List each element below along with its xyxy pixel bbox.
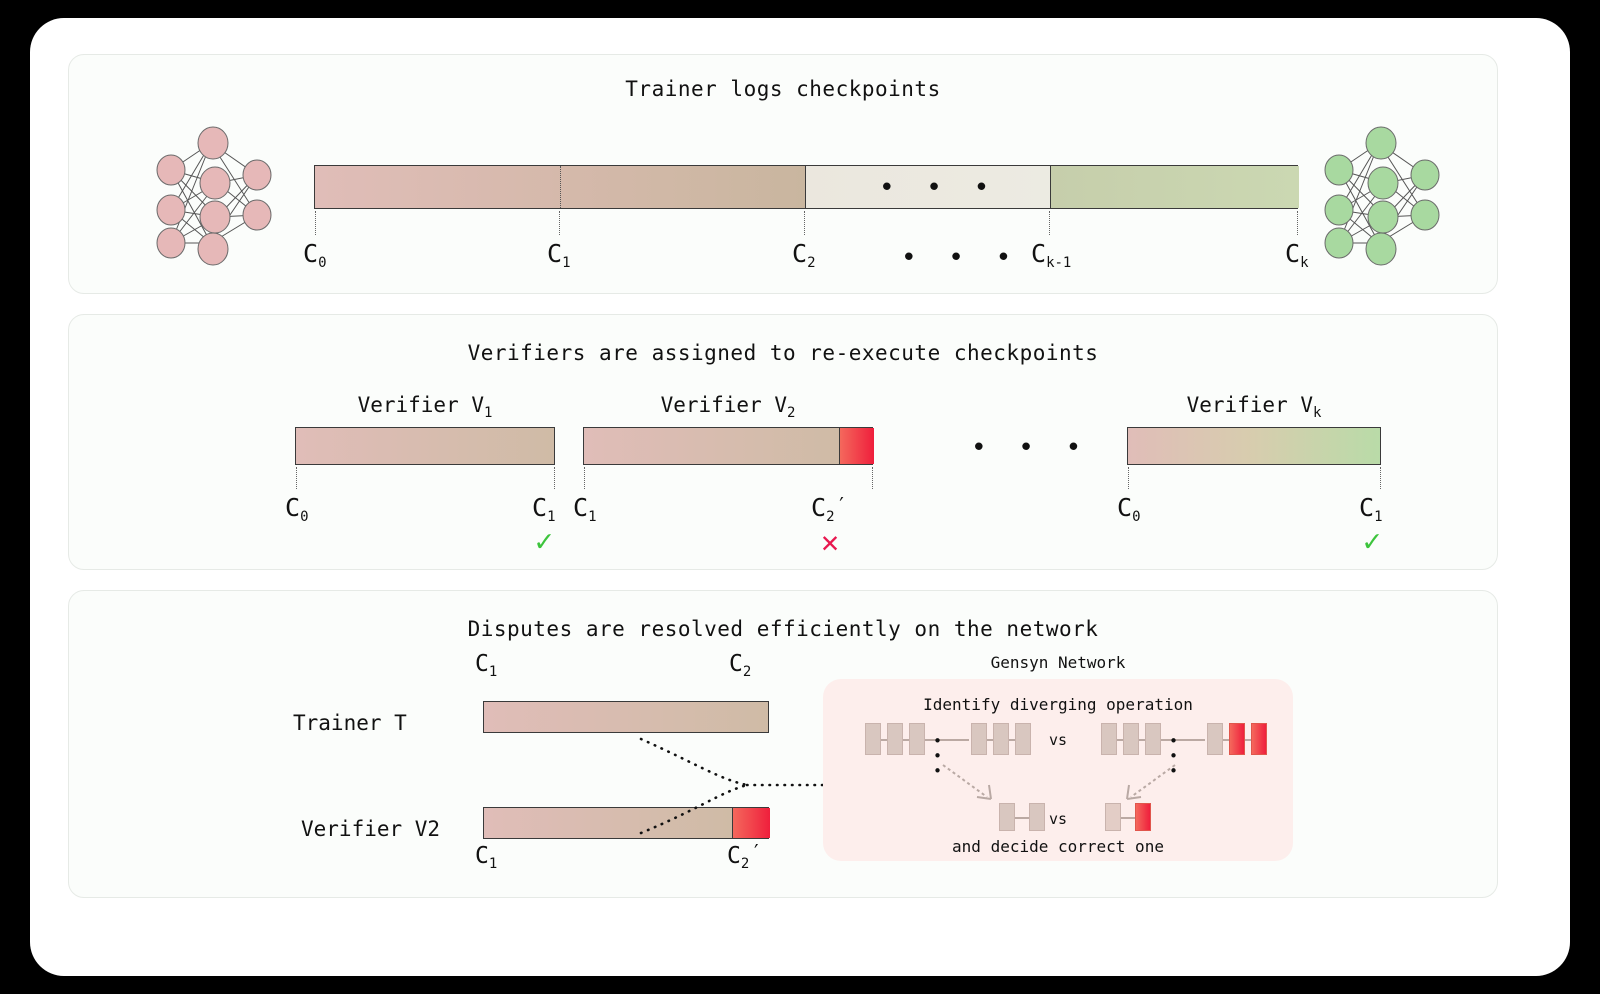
label-base: C — [1285, 239, 1300, 268]
neural-network-green-icon — [1317, 125, 1447, 255]
verifier-k-result-check: ✓ — [1363, 527, 1381, 557]
op-block — [1015, 723, 1031, 755]
panel-verifiers-title: Verifiers are assigned to re-execute che… — [69, 341, 1497, 365]
label-sub: 2 — [743, 664, 751, 680]
verifier-2-tick-start — [584, 467, 585, 489]
tick-c2 — [804, 211, 805, 235]
segment-ck1-ck — [1050, 166, 1299, 208]
gensyn-caption-bottom: and decide correct one — [823, 837, 1293, 856]
verifier-1-title: Verifier V1 — [295, 393, 555, 417]
verifier-2-end-label: C2′ — [811, 495, 847, 520]
verifier-1-index: 1 — [484, 405, 492, 421]
gensyn-network-heading: Gensyn Network — [823, 653, 1293, 672]
label-base: C — [475, 843, 489, 869]
tick-c1 — [559, 211, 560, 235]
divider-ck1 — [1050, 166, 1051, 208]
verifier-2-result-cross: ✕ — [821, 528, 839, 558]
label-base: C — [1359, 493, 1374, 522]
verifier-1-tick-end — [554, 467, 555, 489]
verifier-2-name: Verifier V — [661, 393, 787, 417]
verifier-k-end-label: C1 — [1359, 495, 1383, 520]
gensyn-network-box: Identify diverging operation • • • vs — [823, 679, 1293, 861]
op-block — [909, 723, 925, 755]
verifier-row-start-label: C1 — [475, 845, 497, 868]
op-block — [887, 723, 903, 755]
verifier-2-segment-normal — [584, 428, 839, 464]
label-sub: 1 — [588, 509, 596, 525]
verifier-k-tick-start — [1128, 467, 1129, 489]
dispute-row-label-verifier: Verifier V2 — [301, 817, 440, 841]
verifier-k-index: k — [1313, 405, 1321, 421]
verifier-1-bar — [295, 427, 555, 465]
tick-c0 — [315, 211, 316, 235]
drilldown-arrow-right — [1111, 763, 1177, 807]
gensyn-caption-top: Identify diverging operation — [823, 695, 1293, 714]
op-block — [993, 723, 1009, 755]
diagram-card: Trainer logs checkpoints — [30, 18, 1570, 976]
label-base: C — [1031, 239, 1046, 268]
label-sub: k — [1300, 255, 1308, 271]
dispute-row-label-trainer: Trainer T — [293, 711, 407, 735]
label-base: C — [811, 493, 826, 522]
checkpoint-label-ck1: Ck-1 — [1031, 241, 1071, 266]
op-block-divergent — [1229, 723, 1245, 755]
label-sub: 1 — [489, 856, 497, 872]
verifier-1-start-label: C0 — [285, 495, 309, 520]
op-block — [1101, 723, 1117, 755]
label-sub: 0 — [318, 255, 326, 271]
trainer-timeline-bar: • • • — [314, 165, 1298, 209]
drilldown-arrow-left — [941, 763, 1007, 807]
label-sub: 1 — [1374, 509, 1382, 525]
panel-trainer: Trainer logs checkpoints — [68, 54, 1498, 294]
op-block — [999, 803, 1015, 831]
panel-disputes: Disputes are resolved efficiently on the… — [68, 590, 1498, 898]
label-sub: 2 — [807, 255, 815, 271]
segment-c0-c1 — [315, 166, 560, 208]
verifier-k-bar — [1127, 427, 1381, 465]
op-block — [865, 723, 881, 755]
op-block — [1145, 723, 1161, 755]
bar-ellipsis: • • • — [879, 175, 997, 201]
checkpoint-label-c0: C0 — [303, 241, 327, 266]
verifiers-ellipsis: • • • — [971, 435, 1089, 461]
op-block — [1123, 723, 1139, 755]
label-sub: k-1 — [1046, 255, 1071, 271]
verifier-k-title: Verifier Vk — [1127, 393, 1381, 417]
neural-network-pink-icon — [149, 125, 279, 255]
divider-c1 — [560, 166, 561, 208]
label-sub: 2 — [741, 856, 749, 872]
tick-ck — [1297, 211, 1298, 235]
panel-disputes-title: Disputes are resolved efficiently on the… — [69, 617, 1497, 641]
op-block-divergent — [1251, 723, 1267, 755]
tick-ck1 — [1049, 211, 1050, 235]
dispute-convergence-arrow — [629, 721, 849, 851]
verifier-k-tick-end — [1380, 467, 1381, 489]
checkpoint-label-c1: C1 — [547, 241, 571, 266]
label-base: C — [1117, 493, 1132, 522]
verifier-2-title: Verifier V2 — [583, 393, 873, 417]
op-block — [1105, 803, 1121, 831]
label-base: C — [475, 651, 489, 677]
verifier-1-result-check: ✓ — [535, 527, 553, 557]
divider-c2 — [805, 166, 806, 208]
label-sub: 2 — [826, 509, 834, 525]
op-block — [1207, 723, 1223, 755]
label-prime: ′ — [836, 493, 848, 517]
verifier-1-tick-start — [296, 467, 297, 489]
checkpoints-ellipsis-label: • • • — [901, 245, 1019, 271]
verifier-2-start-label: C1 — [573, 495, 597, 520]
panel-trainer-title: Trainer logs checkpoints — [69, 77, 1497, 101]
verifier-2-bar — [583, 427, 873, 465]
label-base: C — [547, 239, 562, 268]
verifier-2-index: 2 — [787, 405, 795, 421]
op-block-divergent — [1135, 803, 1151, 831]
checkpoint-label-c2: C2 — [792, 241, 816, 266]
label-sub: 1 — [489, 664, 497, 680]
verifier-2-segment-divergent — [839, 428, 874, 464]
verifier-2-tick-end — [872, 467, 873, 489]
label-base: C — [303, 239, 318, 268]
vs-label-bottom: vs — [1041, 810, 1075, 828]
checkpoint-label-ck: Ck — [1285, 241, 1309, 266]
trainer-row-start-label: C1 — [475, 653, 497, 676]
label-sub: 0 — [300, 509, 308, 525]
label-sub: 1 — [547, 509, 555, 525]
verifier-1-name: Verifier V — [358, 393, 484, 417]
label-base: C — [573, 493, 588, 522]
panel-verifiers: Verifiers are assigned to re-execute che… — [68, 314, 1498, 570]
label-sub: 1 — [562, 255, 570, 271]
trainer-row-end-label: C2 — [729, 653, 751, 676]
verifier-k-start-label: C0 — [1117, 495, 1141, 520]
label-base: C — [285, 493, 300, 522]
label-sub: 0 — [1132, 509, 1140, 525]
label-base: C — [729, 651, 743, 677]
segment-c1-c2 — [560, 166, 805, 208]
verifier-k-name: Verifier V — [1187, 393, 1313, 417]
label-base: C — [532, 493, 547, 522]
label-base: C — [792, 239, 807, 268]
verifier-1-end-label: C1 — [532, 495, 556, 520]
vs-label-top: vs — [1041, 731, 1075, 749]
op-block — [971, 723, 987, 755]
